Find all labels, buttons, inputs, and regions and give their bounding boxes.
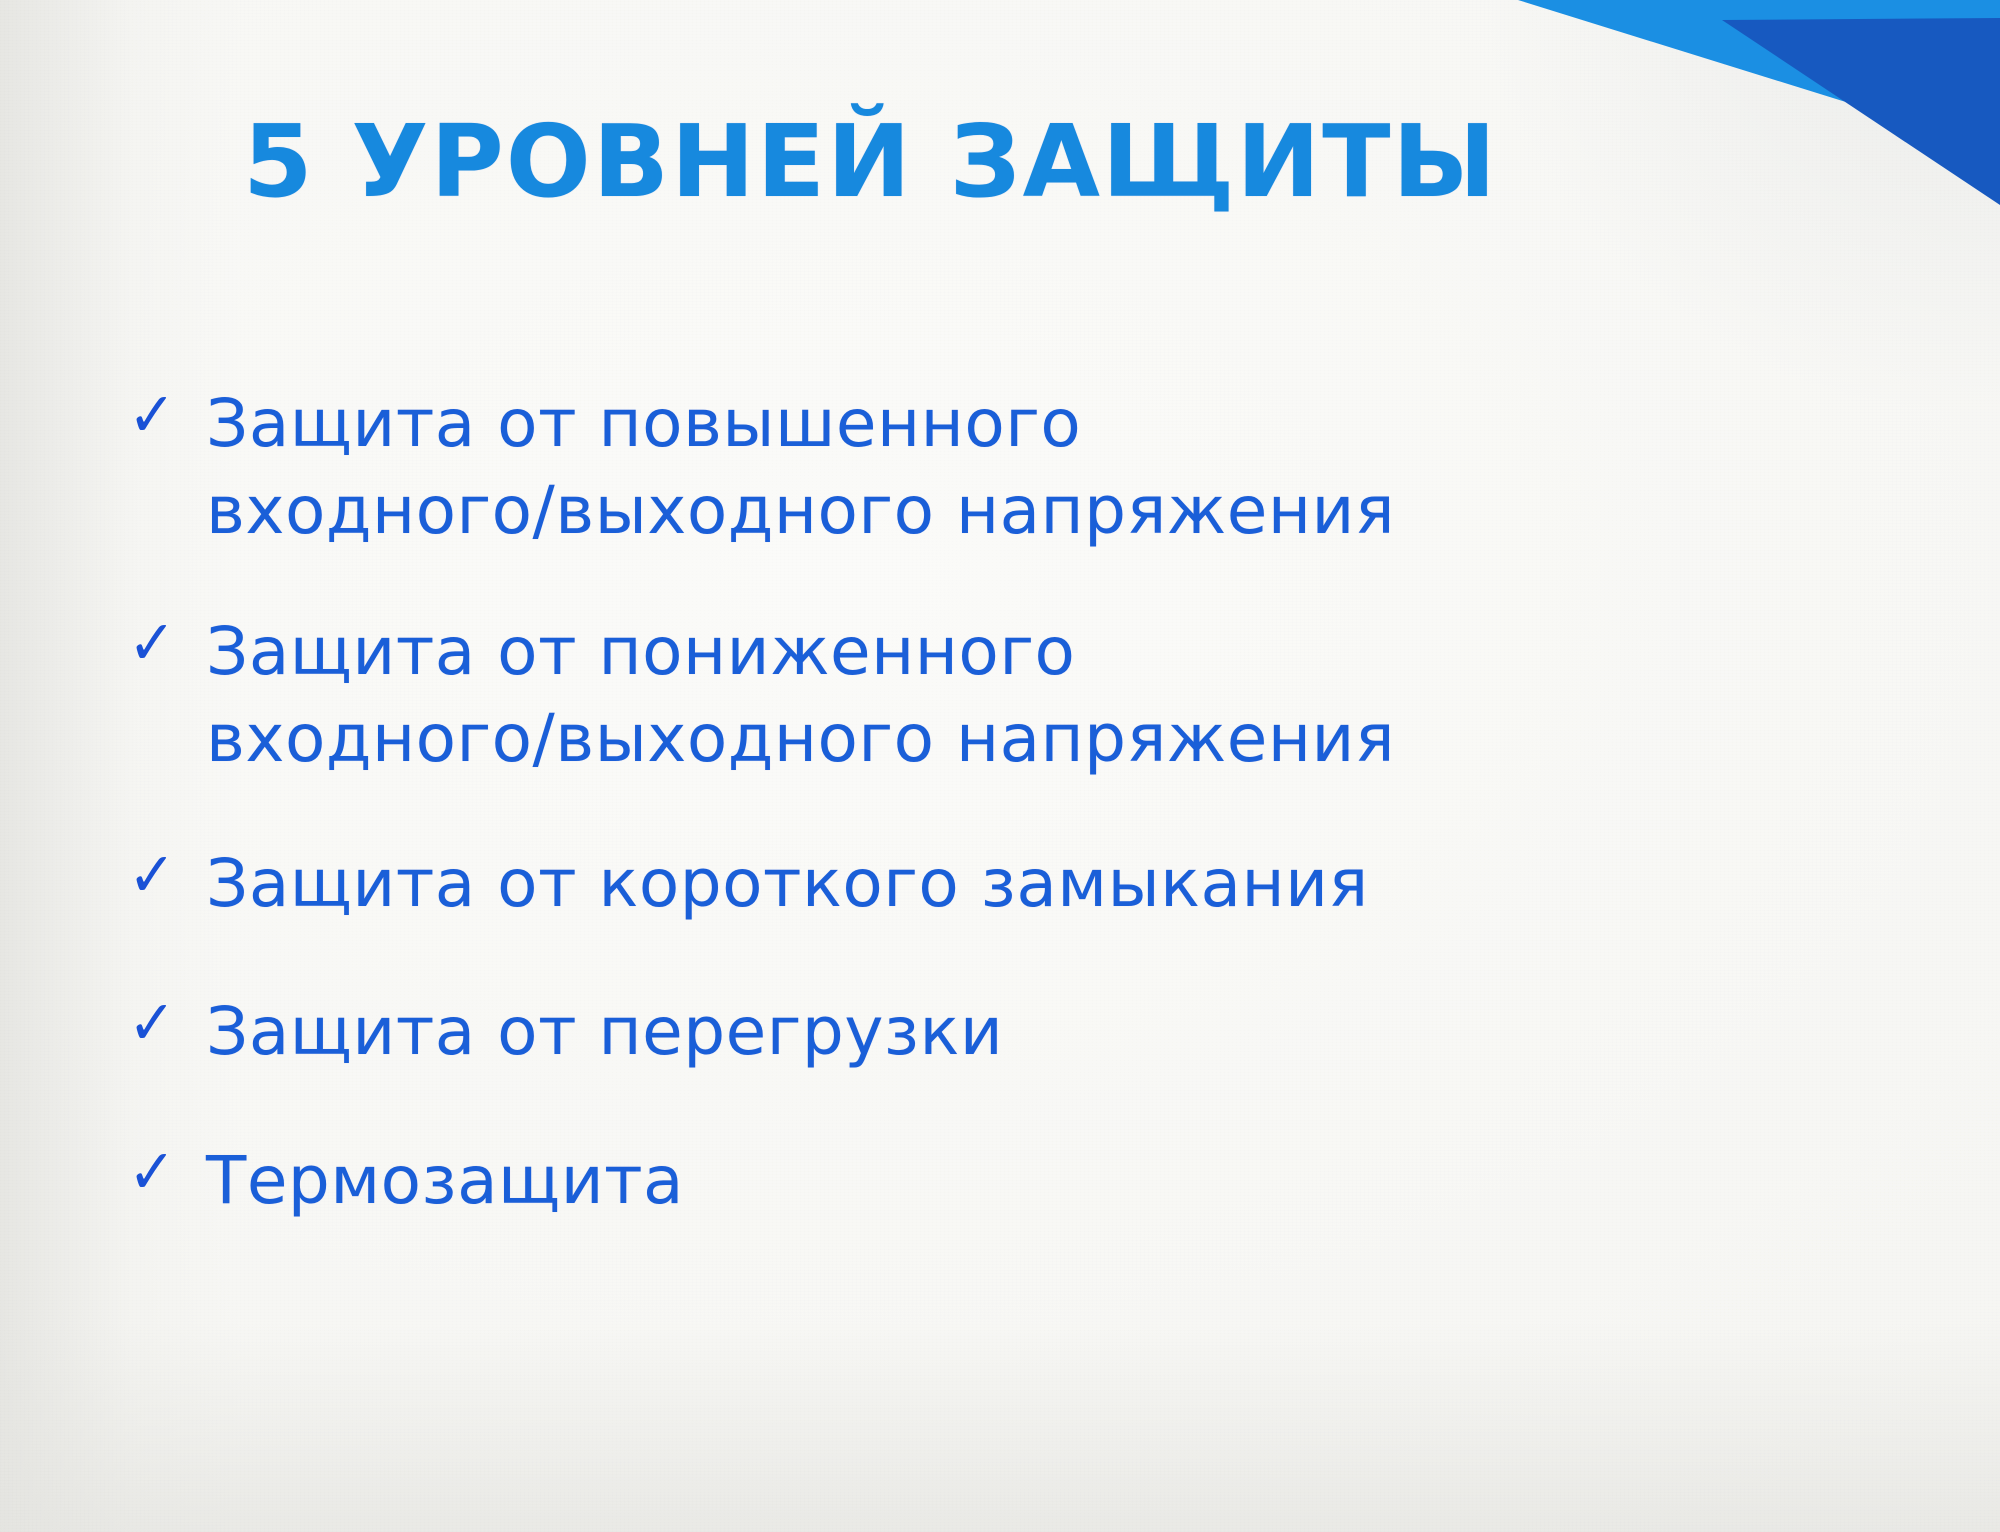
list-item-line: Защита от повышенного <box>206 385 1081 462</box>
protection-features-list: ✓ Защита от повышенного входного/выходно… <box>128 380 1928 1224</box>
list-item-thermal-protection: ✓ Термозащита <box>128 1137 1928 1224</box>
check-icon: ✓ <box>128 612 200 674</box>
check-icon: ✓ <box>128 1141 200 1203</box>
list-item-line: Защита от короткого замыкания <box>206 845 1369 922</box>
list-item-line: Термозащита <box>206 1142 684 1219</box>
list-item-line: входного/выходного напряжения <box>206 700 1395 777</box>
list-item-line: Защита от перегрузки <box>206 993 1003 1070</box>
list-item-line: входного/выходного напряжения <box>206 472 1395 549</box>
list-item-overload-protection: ✓ Защита от перегрузки <box>128 988 1928 1075</box>
check-icon: ✓ <box>128 992 200 1054</box>
list-item-label: Защита от пониженного входного/выходного… <box>206 608 1928 782</box>
list-item-label: Защита от повышенного входного/выходного… <box>206 380 1928 554</box>
list-item-line: Защита от пониженного <box>206 613 1075 690</box>
page-title: 5 УРОВНЕЙ ЗАЩИТЫ <box>243 112 1498 212</box>
product-packaging-panel: 5 УРОВНЕЙ ЗАЩИТЫ ✓ Защита от повышенного… <box>0 0 2000 1532</box>
list-item-label: Термозащита <box>206 1137 1928 1224</box>
panel-content: 5 УРОВНЕЙ ЗАЩИТЫ ✓ Защита от повышенного… <box>0 0 2000 1532</box>
list-item-short-circuit-protection: ✓ Защита от короткого замыкания <box>128 840 1928 927</box>
check-icon: ✓ <box>128 844 200 906</box>
list-item-overvoltage-protection: ✓ Защита от повышенного входного/выходно… <box>128 380 1928 554</box>
list-item-undervoltage-protection: ✓ Защита от пониженного входного/выходно… <box>128 608 1928 782</box>
list-item-label: Защита от перегрузки <box>206 988 1928 1075</box>
check-icon: ✓ <box>128 384 200 446</box>
list-item-label: Защита от короткого замыкания <box>206 840 1928 927</box>
